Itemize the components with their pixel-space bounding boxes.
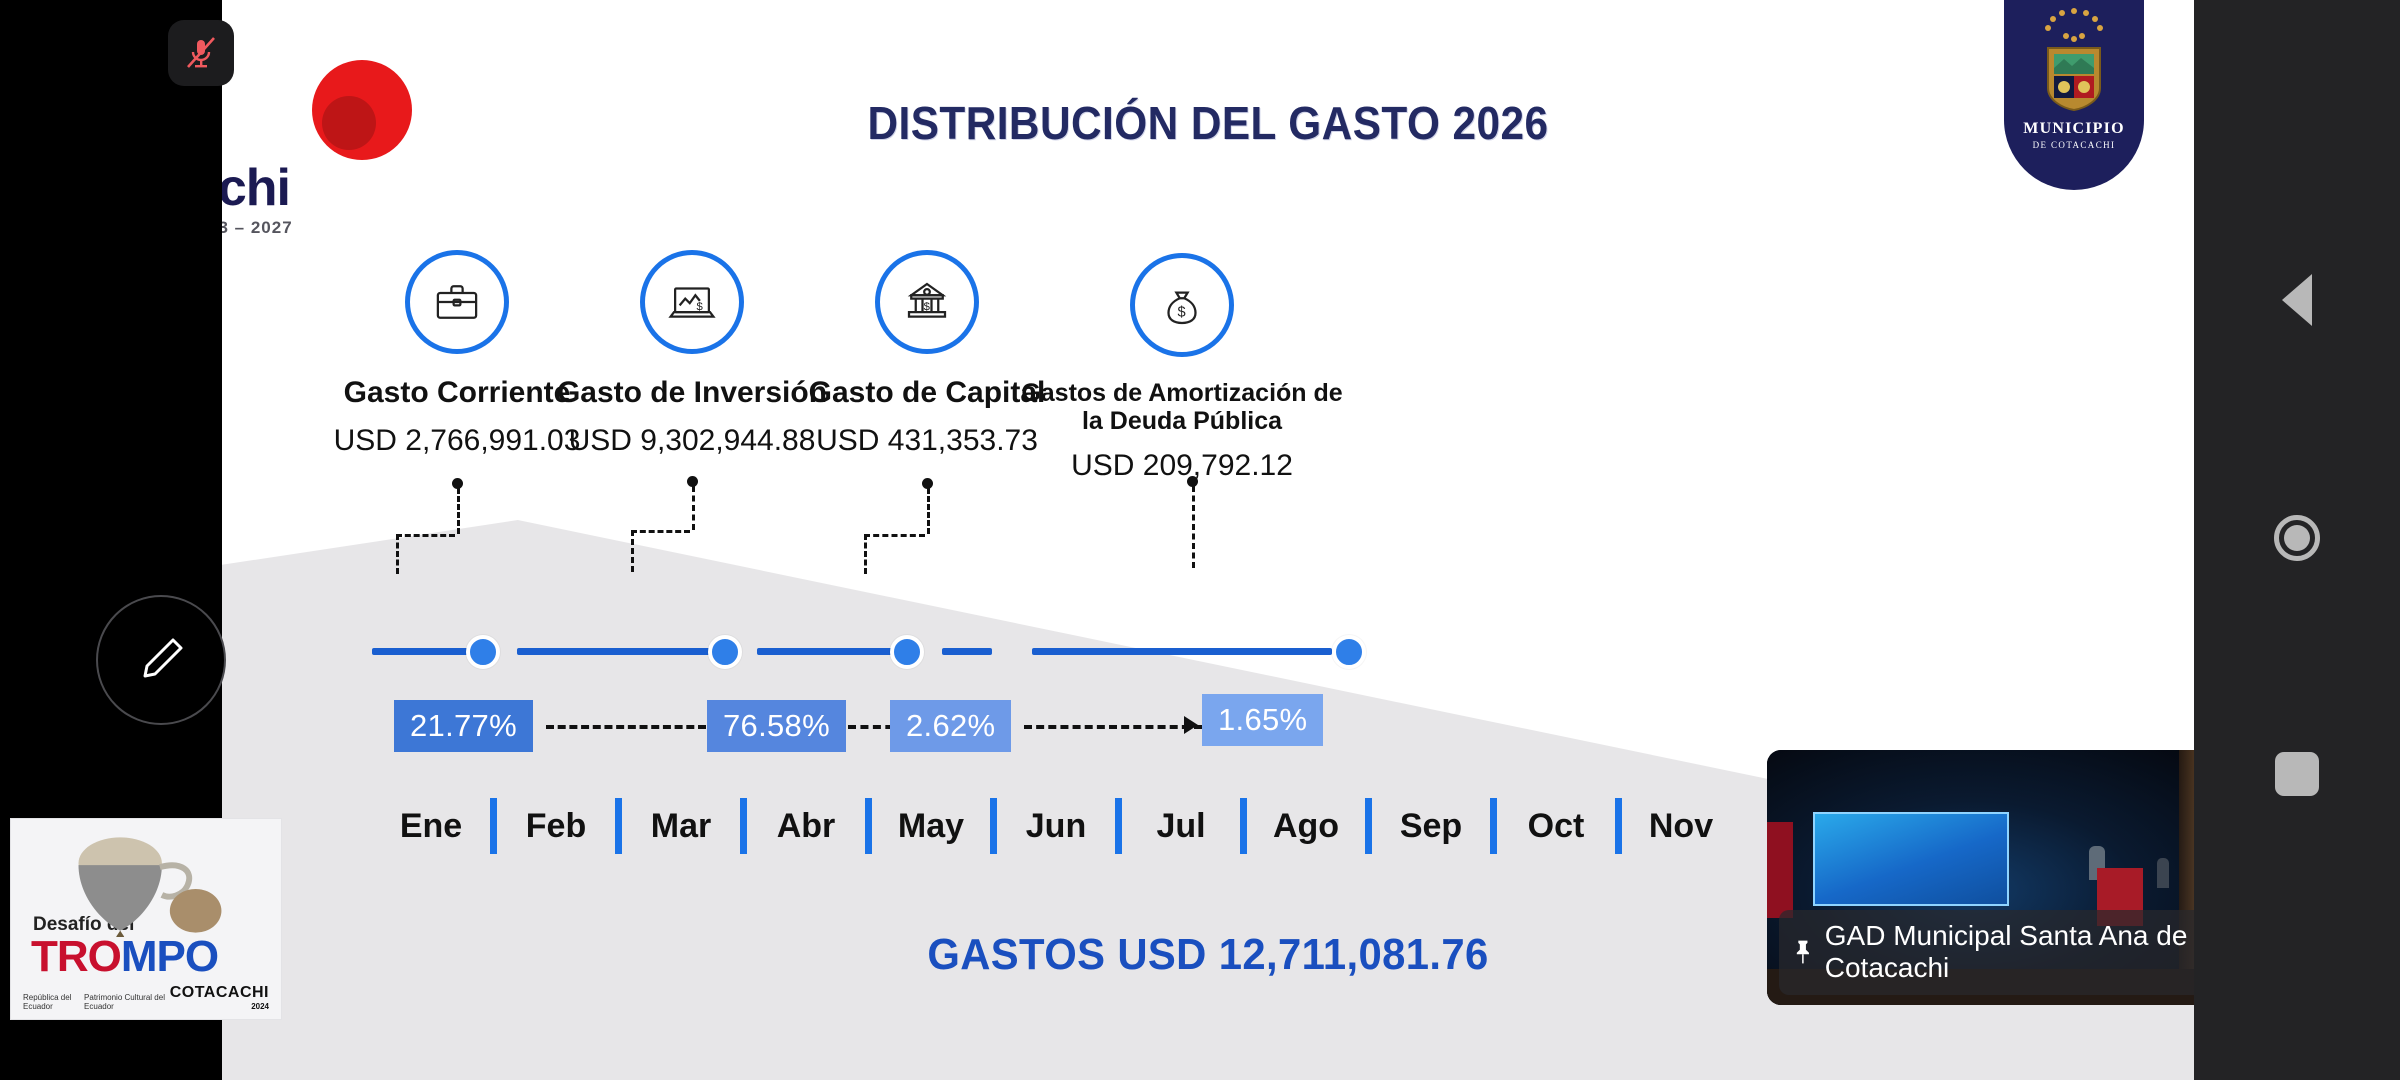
- month-separator: [1615, 798, 1622, 854]
- nav-home-button[interactable]: [2194, 478, 2400, 598]
- trompo-foot-left: República del Ecuador: [23, 993, 84, 1011]
- crest-line-1: MUNICIPIO: [2023, 120, 2124, 138]
- second-person: [2157, 858, 2169, 888]
- percent-chip-1: 21.77%: [394, 700, 533, 752]
- screen: DISTRIBUCIÓN DEL GASTO 2026 Gasto Corrie…: [0, 0, 2400, 1080]
- month-label: Mar: [622, 807, 740, 846]
- month-separator: [1240, 798, 1247, 854]
- mic-mute-button[interactable]: [168, 20, 234, 86]
- home-circle-icon: [2274, 515, 2320, 561]
- recents-square-icon: [2275, 752, 2319, 796]
- spinning-top-image: [11, 833, 281, 937]
- month-label: Jun: [997, 807, 1115, 846]
- month-label: Nov: [1622, 807, 1740, 846]
- shield-icon: [2044, 46, 2104, 112]
- pip-caption: GAD Municipal Santa Ana de Cotacachi: [1779, 910, 2213, 995]
- month-separator: [1490, 798, 1497, 854]
- cotacachi-logo: cachi n 2023 – 2027: [222, 60, 462, 250]
- stars-arc-icon: [2038, 6, 2110, 46]
- month-axis: Ene Feb Mar Abr May Jun Jul Ago Sep Oct …: [372, 790, 1782, 862]
- month-label: Feb: [497, 807, 615, 846]
- back-triangle-icon: [2282, 274, 2312, 326]
- month-label: Jul: [1122, 807, 1240, 846]
- month-label: Oct: [1497, 807, 1615, 846]
- trompo-foot-mid: Patrimonio Cultural del Ecuador: [84, 993, 170, 1011]
- trompo-title-tro: TRO: [31, 932, 121, 981]
- trompo-footer: República del Ecuador Patrimonio Cultura…: [11, 978, 281, 1019]
- category-value: USD 209,792.12: [1017, 449, 1347, 483]
- trompo-cotacachi: COTACACHI: [170, 984, 269, 1001]
- month-separator: [490, 798, 497, 854]
- annotate-pencil-button[interactable]: [96, 595, 226, 725]
- month-label: May: [872, 807, 990, 846]
- percent-chip-4: 1.65%: [1202, 694, 1323, 746]
- pip-caption-text: GAD Municipal Santa Ana de Cotacachi: [1825, 920, 2201, 983]
- trompo-title: TROMPO: [31, 936, 218, 978]
- percent-chip-2: 76.58%: [707, 700, 846, 752]
- month-label: Sep: [1372, 807, 1490, 846]
- laptop-chart-icon: $: [640, 250, 744, 354]
- projected-slide: [1813, 812, 2009, 906]
- money-bag-icon: $: [1130, 253, 1234, 357]
- timeline-node-1[interactable]: [466, 635, 500, 669]
- bank-icon: $: [875, 250, 979, 354]
- month-separator: [865, 798, 872, 854]
- chip-link-3: [1024, 725, 1202, 729]
- logo-years: n 2023 – 2027: [222, 218, 293, 238]
- month-label: Abr: [747, 807, 865, 846]
- svg-text:$: $: [924, 301, 931, 313]
- month-separator: [990, 798, 997, 854]
- briefcase-icon: [405, 250, 509, 354]
- nav-recents-button[interactable]: [2194, 714, 2400, 834]
- month-separator: [740, 798, 747, 854]
- trompo-title-mpo: MPO: [121, 932, 218, 981]
- mic-muted-icon: [182, 34, 220, 72]
- crest-line-2: DE COTACACHI: [2033, 140, 2116, 150]
- android-nav-bar: [2194, 0, 2400, 1080]
- timeline-node-3[interactable]: [890, 635, 924, 669]
- chip-arrow-3: [1184, 716, 1198, 734]
- logo-wordmark: cachi: [222, 158, 290, 218]
- category-block-amortizacion: $ Gastos de Amortización de la Deuda Púb…: [1017, 253, 1347, 483]
- pin-icon: [1793, 935, 1813, 969]
- month-separator: [1115, 798, 1122, 854]
- logo-circle-icon: [312, 60, 412, 160]
- stage-banner: [1767, 822, 1793, 918]
- chip-link-1: [546, 725, 706, 729]
- month-separator: [615, 798, 622, 854]
- percent-chip-3: 2.62%: [890, 700, 1011, 752]
- video-pip[interactable]: GAD Municipal Santa Ana de Cotacachi: [1767, 750, 2225, 1005]
- month-label: Ene: [372, 807, 490, 846]
- svg-text:$: $: [697, 301, 704, 313]
- category-label: Gastos de Amortización de la Deuda Públi…: [1017, 379, 1347, 435]
- timeline: [372, 640, 1572, 664]
- trompo-year: 2024: [251, 1002, 269, 1011]
- timeline-node-2[interactable]: [708, 635, 742, 669]
- trompo-poster: Desafío del TROMPO República del Ecuador…: [10, 818, 282, 1020]
- page-title: DISTRIBUCIÓN DEL GASTO 2026: [301, 96, 2115, 150]
- nav-back-button[interactable]: [2194, 240, 2400, 360]
- municipal-crest: MUNICIPIO DE COTACACHI: [2004, 0, 2144, 190]
- pencil-icon: [133, 632, 189, 688]
- timeline-node-4[interactable]: [1332, 635, 1366, 669]
- svg-text:$: $: [1178, 304, 1186, 320]
- month-separator: [1365, 798, 1372, 854]
- month-label: Ago: [1247, 807, 1365, 846]
